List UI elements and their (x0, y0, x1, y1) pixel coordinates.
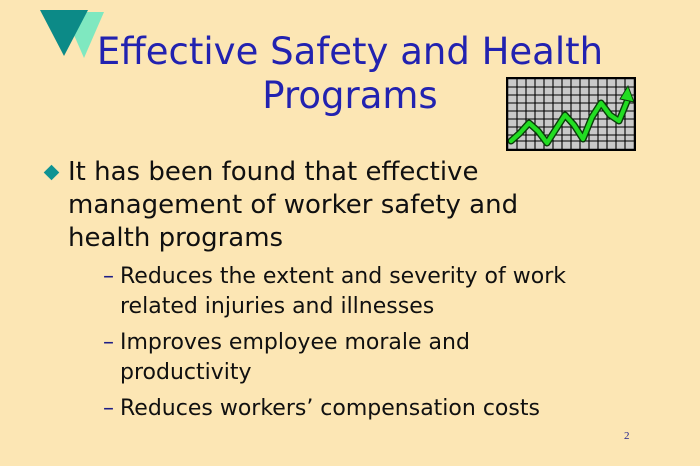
sub-bullet-text: Reduces the extent and severity of work … (120, 262, 590, 322)
slide-canvas: Effective Safety and Health Programs (0, 0, 700, 466)
list-item: – Improves employee morale and productiv… (103, 328, 656, 388)
dash-bullet-icon: – (103, 328, 120, 358)
bullet-item-level1: It has been found that effective managem… (46, 156, 656, 255)
bullet-level1-text: It has been found that effective managem… (68, 156, 548, 255)
diamond-bullet-icon (46, 156, 68, 178)
list-item: – Reduces the extent and severity of wor… (103, 262, 656, 322)
trend-chart-graphic (506, 77, 636, 151)
dash-bullet-icon: – (103, 394, 120, 424)
sub-bullet-list: – Reduces the extent and severity of wor… (103, 262, 656, 424)
dash-bullet-icon: – (103, 262, 120, 292)
page-number: 2 (624, 430, 630, 442)
sub-bullet-text: Reduces workers’ compensation costs (120, 394, 590, 424)
body-content: It has been found that effective managem… (46, 156, 656, 430)
list-item: – Reduces workers’ compensation costs (103, 394, 656, 424)
sub-bullet-text: Improves employee morale and productivit… (120, 328, 590, 388)
